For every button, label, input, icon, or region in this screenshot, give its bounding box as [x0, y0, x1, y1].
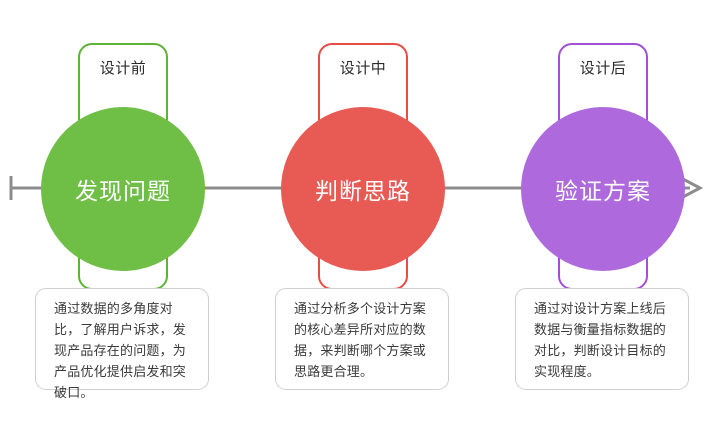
stage-description-text-1: 通过数据的多角度对比，了解用户诉求，发现产品存在的问题，为产品优化提供启发和突破…: [54, 299, 194, 404]
stage-group-1: 设计前 发现问题 通过数据的多角度对比，了解用户诉求，发现产品存在的问题，为产品…: [0, 0, 240, 429]
phase-label-1: 设计前: [60, 57, 186, 78]
phase-label-3: 设计后: [540, 57, 666, 78]
phase-label-2: 设计中: [300, 57, 426, 78]
stage-description-card-2: 通过分析多个设计方案的核心差异所对应的数据，来判断哪个方案或思路更合理。: [275, 288, 449, 390]
stage-node-label-3: 验证方案: [555, 172, 651, 206]
stage-group-3: 设计后 验证方案 通过对设计方案上线后数据与衡量指标数据的对比，判断设计目标的实…: [480, 0, 720, 429]
stage-node-circle-3[interactable]: 验证方案: [521, 107, 685, 271]
stage-node-circle-2[interactable]: 判断思路: [281, 107, 445, 271]
stage-node-label-1: 发现问题: [75, 172, 171, 206]
stage-description-card-3: 通过对设计方案上线后数据与衡量指标数据的对比，判断设计目标的实现程度。: [515, 288, 689, 390]
stage-description-text-2: 通过分析多个设计方案的核心差异所对应的数据，来判断哪个方案或思路更合理。: [294, 299, 434, 383]
stage-node-label-2: 判断思路: [315, 172, 411, 206]
stage-node-circle-1[interactable]: 发现问题: [41, 107, 205, 271]
stage-description-card-1: 通过数据的多角度对比，了解用户诉求，发现产品存在的问题，为产品优化提供启发和突破…: [35, 288, 209, 390]
stage-group-2: 设计中 判断思路 通过分析多个设计方案的核心差异所对应的数据，来判断哪个方案或思…: [240, 0, 480, 429]
diagram-canvas: 设计前 发现问题 通过数据的多角度对比，了解用户诉求，发现产品存在的问题，为产品…: [0, 0, 720, 429]
stage-description-text-3: 通过对设计方案上线后数据与衡量指标数据的对比，判断设计目标的实现程度。: [534, 299, 674, 383]
